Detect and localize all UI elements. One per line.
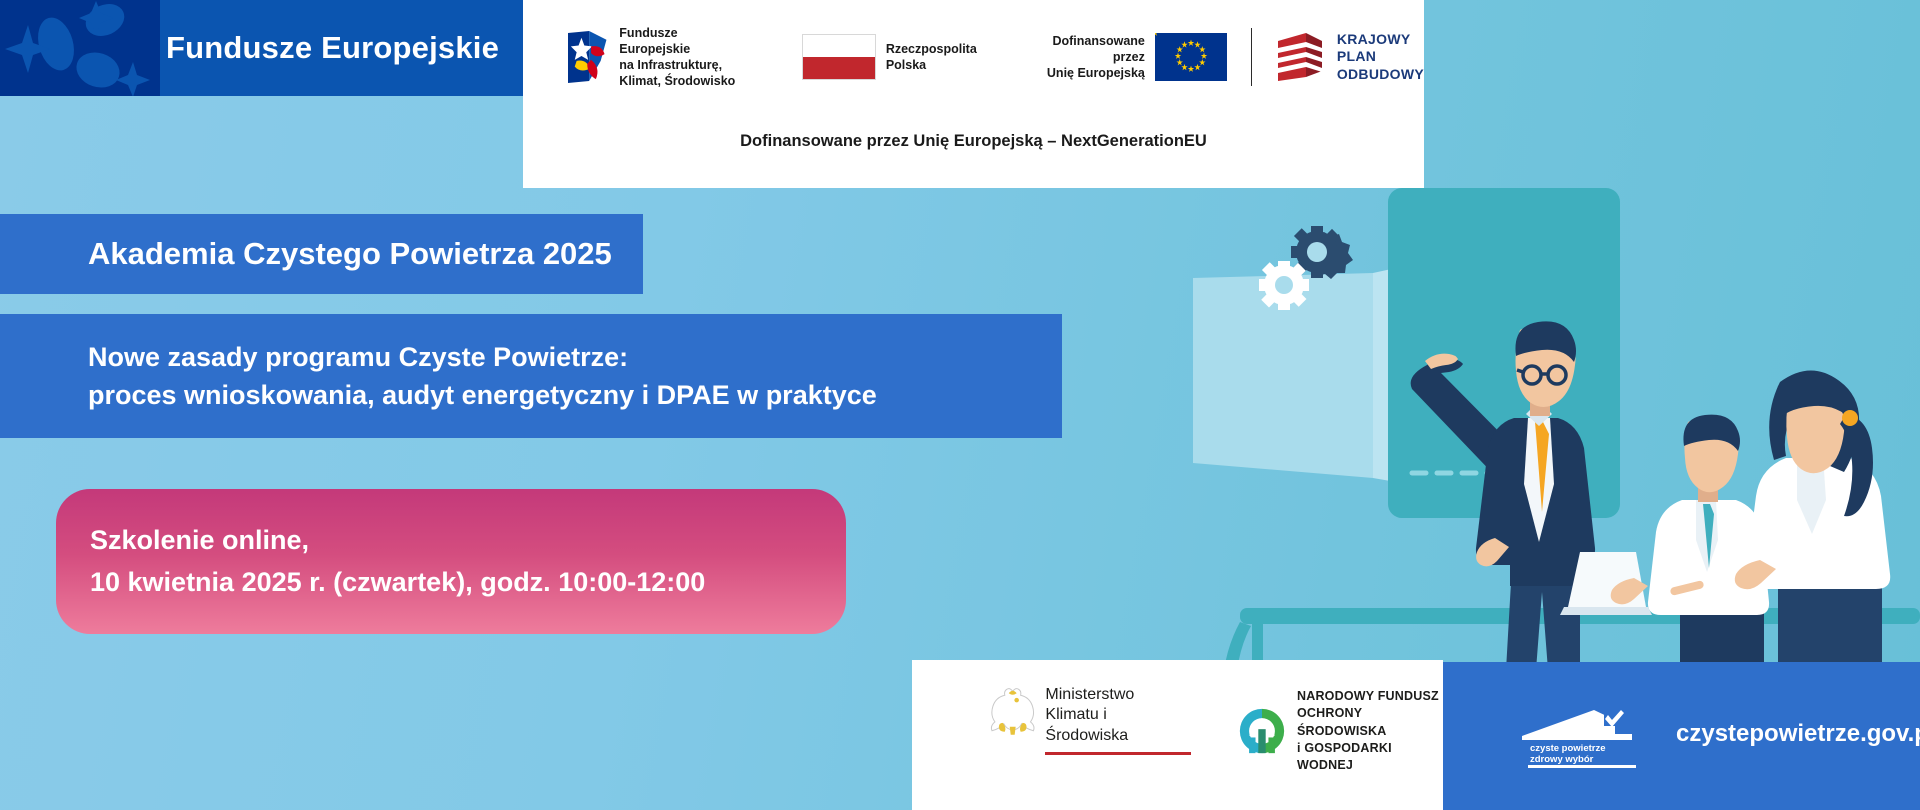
logo-caption-kpo: KRAJOWY PLAN ODBUDOWY <box>1337 31 1424 82</box>
footer-czyste-powietrze: czyste powietrze zdrowy wybór czystepowi… <box>1443 662 1920 810</box>
eu-logo-strip: Fundusze Europejskie na Infrastrukturę, … <box>523 0 1424 188</box>
footer-partner-logos: Ministerstwo Klimatu i Środowiska NARODO… <box>912 660 1443 810</box>
czyste-powietrze-house-logo-icon: czyste powietrze zdrowy wybór <box>1520 706 1644 773</box>
fe-brand-label: Fundusze Europejskie <box>166 30 499 66</box>
logo-caption-ue: Dofinansowane przez Unię Europejską <box>1025 33 1145 82</box>
poland-flag-icon <box>802 34 876 80</box>
fundusze-europejskie-logo-icon <box>568 30 610 84</box>
nfosigw-tree-logo-icon <box>1238 705 1286 757</box>
czyste-powietrze-url[interactable]: czystepowietrze.gov.pl <box>1676 720 1920 748</box>
fe-stars-decoration <box>0 0 160 96</box>
logo-unia-europejska: Dofinansowane przez Unię Europejską <box>1025 33 1227 82</box>
gears-poster-icon <box>1193 226 1396 482</box>
logo-nfosigw: NARODOWY FUNDUSZ OCHRONY ŚRODOWISKA i GO… <box>1238 688 1443 774</box>
page-title-band: Akademia Czystego Powietrza 2025 <box>0 214 643 294</box>
european-union-flag-icon <box>1155 33 1227 81</box>
page-title: Akademia Czystego Powietrza 2025 <box>88 236 612 272</box>
subtitle-band: Nowe zasady programu Czyste Powietrze: p… <box>0 314 1062 438</box>
subtitle-line-1: Nowe zasady programu Czyste Powietrze: <box>88 338 1062 376</box>
training-presentation-illustration <box>1160 160 1920 670</box>
logo-caption-fundusze: Fundusze Europejskie na Infrastrukturę, … <box>619 25 747 90</box>
logo-rzeczpospolita-polska: Rzeczpospolita Polska <box>802 34 977 80</box>
event-datetime: 10 kwietnia 2025 r. (czwartek), godz. 10… <box>90 562 846 603</box>
krajowy-plan-odbudowy-logo-icon <box>1272 31 1326 83</box>
seated-man-icon <box>1611 415 1769 670</box>
polish-eagle-emblem-icon <box>990 685 1035 737</box>
banner-root: Fundusze Europejskie Fundusze Europejski… <box>0 0 1920 810</box>
logo-caption-polska: Rzeczpospolita Polska <box>886 41 977 74</box>
event-format: Szkolenie online, <box>90 520 846 561</box>
subtitle-line-2: proces wnioskowania, audyt energetyczny … <box>88 376 1062 414</box>
ministry-red-rule <box>1045 752 1191 755</box>
logo-ministerstwo-klimatu: Ministerstwo Klimatu i Środowiska <box>990 685 1192 755</box>
fundusze-europejskie-header: Fundusze Europejskie <box>160 0 523 96</box>
logo-divider <box>1251 28 1252 86</box>
nfosigw-label: NARODOWY FUNDUSZ OCHRONY ŚRODOWISKA i GO… <box>1297 688 1443 774</box>
cp-tagline-1: czyste powietrze <box>1530 743 1606 754</box>
logo-fundusze-europejskie: Fundusze Europejskie na Infrastrukturę, … <box>568 25 747 90</box>
cp-tagline-2: zdrowy wybór <box>1530 754 1594 765</box>
ministry-label: Ministerstwo Klimatu i Środowiska <box>1045 685 1192 746</box>
eu-funding-caption: Dofinansowane przez Unię Europejską – Ne… <box>523 132 1424 151</box>
logo-krajowy-plan-odbudowy: KRAJOWY PLAN ODBUDOWY <box>1272 31 1424 83</box>
event-date-badge: Szkolenie online, 10 kwietnia 2025 r. (c… <box>56 489 846 634</box>
